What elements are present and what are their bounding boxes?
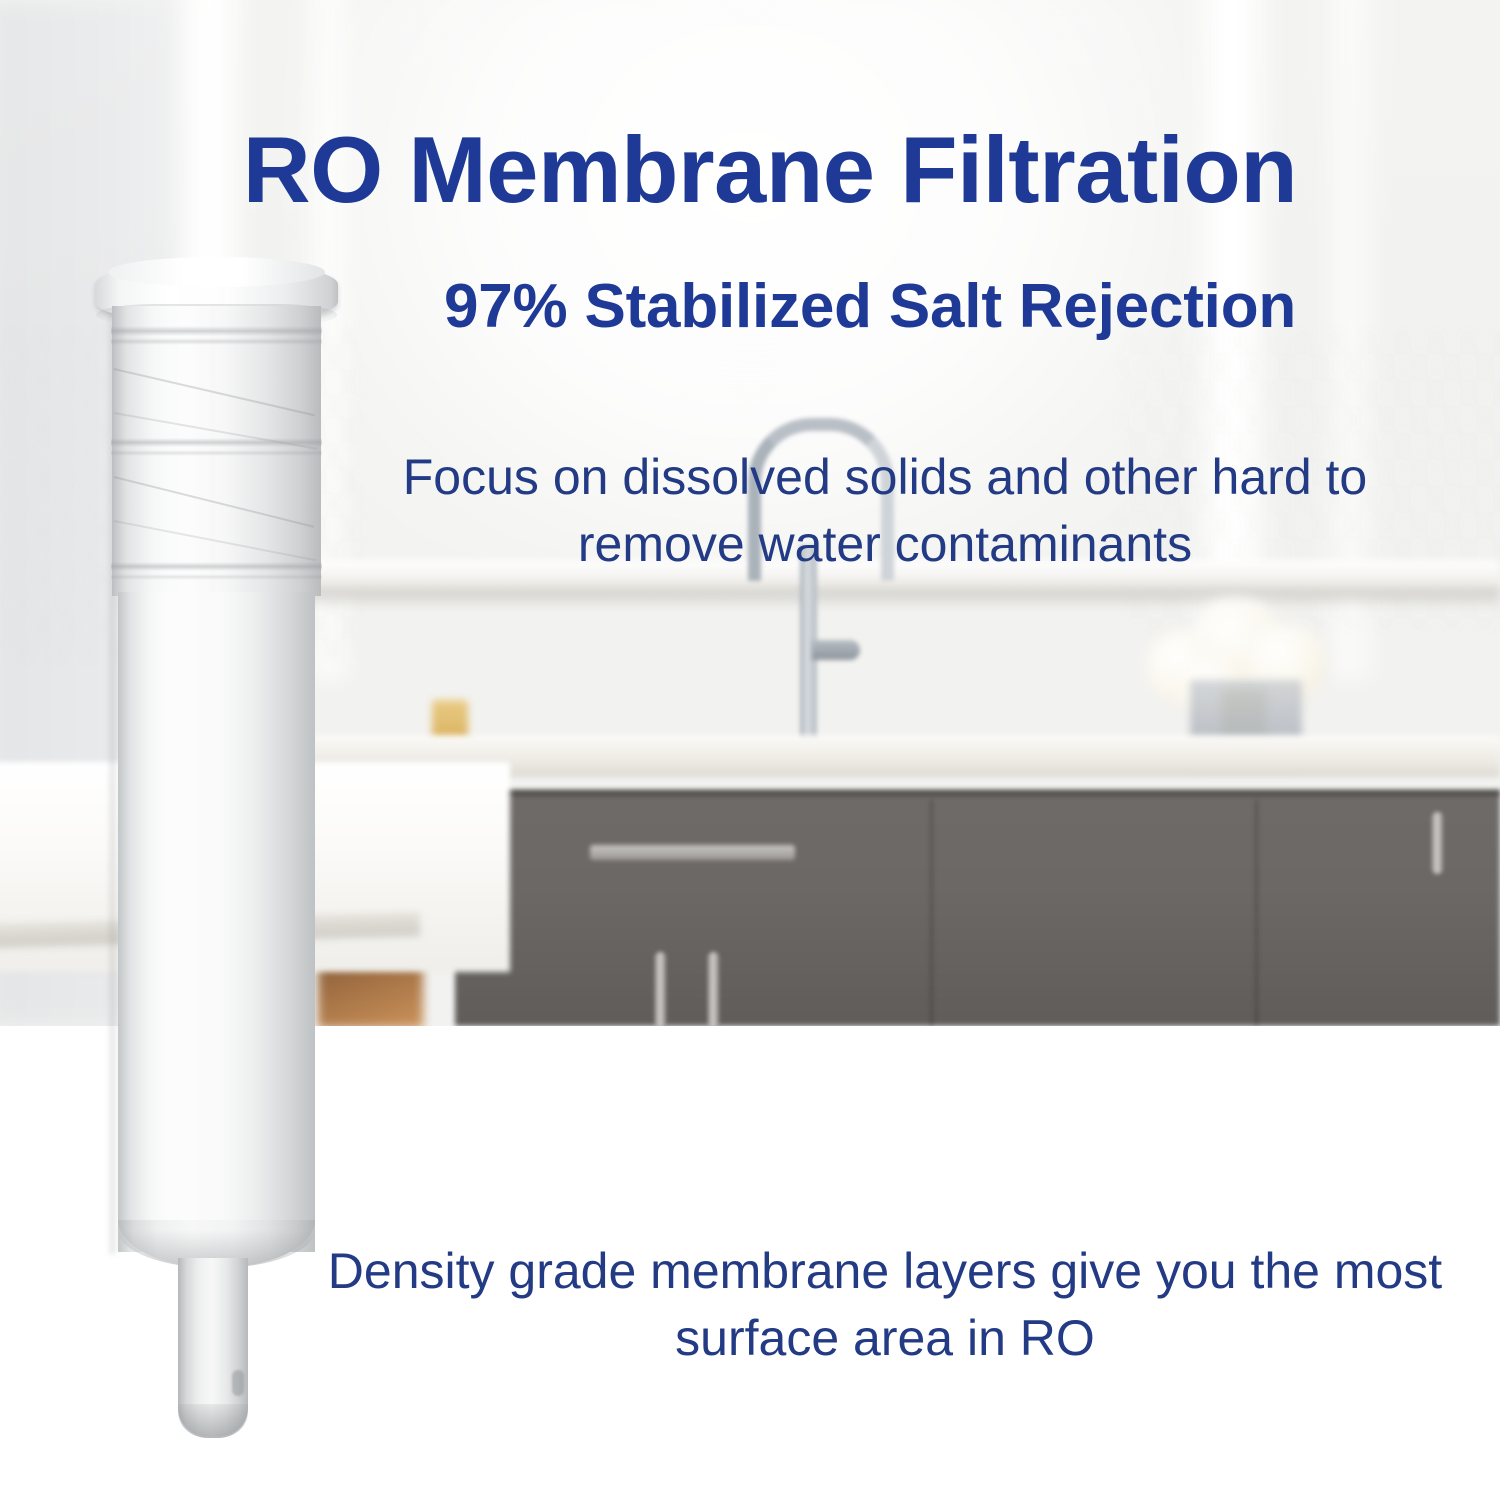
cartridge-body [118, 592, 315, 1252]
cabinet-handle [655, 952, 666, 1026]
poster-canvas: RO Membrane Filtration 97% Stabilized Sa… [0, 0, 1500, 1500]
faucet-handle [812, 640, 860, 660]
cabinet-seam [930, 800, 933, 1026]
cartridge-wrap-band [111, 450, 322, 456]
cabinet-drawer-pull [590, 845, 795, 860]
cartridge-wrap-band [111, 338, 322, 345]
cabinet-handle [1432, 812, 1443, 874]
cartridge-wrap-band [111, 326, 322, 336]
cabinet-seam [1255, 800, 1258, 1026]
kitchen-cabinets [455, 790, 1500, 1026]
cartridge-wrap-band [111, 562, 322, 571]
feature-text-top: Focus on dissolved solids and other hard… [360, 444, 1410, 578]
cabinet-handle [708, 952, 719, 1026]
cartridge-stem-tip [178, 1404, 248, 1438]
cabinet-top-edge [455, 790, 1500, 796]
page-title: RO Membrane Filtration [180, 122, 1360, 218]
subtitle: 97% Stabilized Salt Rejection [300, 274, 1440, 339]
cartridge-stem-mark [232, 1370, 244, 1396]
cartridge-wrap-band [111, 574, 322, 580]
cartridge-cap-top [108, 257, 325, 287]
feature-text-bottom: Density grade membrane layers give you t… [290, 1238, 1480, 1372]
cartridge-wrap-band [111, 438, 322, 447]
